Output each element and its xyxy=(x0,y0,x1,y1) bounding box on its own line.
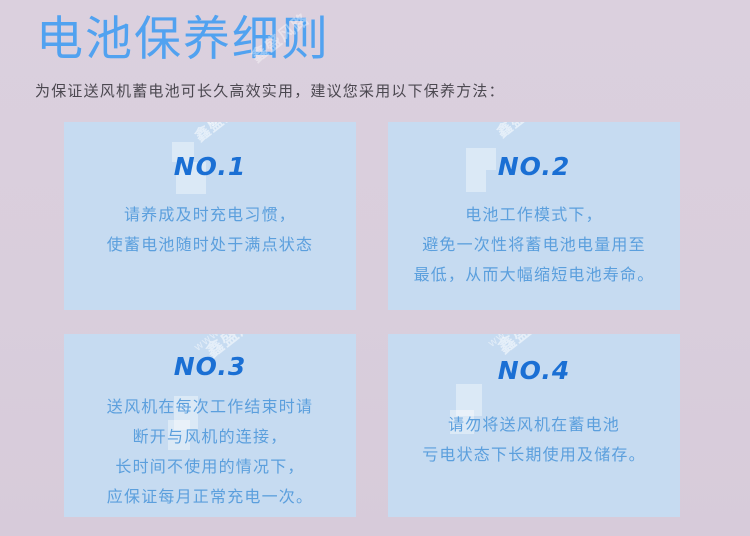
tip-line: 最低，从而大幅缩短电池寿命。 xyxy=(414,260,655,290)
tips-grid: 鑫盛风路 www.xsfl.com NO.1 请养成及时充电习惯， 使蓄电池随时… xyxy=(64,122,680,517)
page-title: 电池保养细则 xyxy=(36,12,330,68)
tip-number: NO.2 xyxy=(498,152,571,182)
tip-number: NO.3 xyxy=(174,352,247,382)
card-watermark: 鑫盛风路 xyxy=(192,122,253,145)
page-subtitle: 为保证送风机蓄电池可长久高效实用，建议您采用以下保养方法： xyxy=(35,80,505,102)
tip-body: 电池工作模式下， 避免一次性将蓄电池电量用至 最低，从而大幅缩短电池寿命。 xyxy=(414,200,655,290)
tip-card-1: 鑫盛风路 www.xsfl.com NO.1 请养成及时充电习惯， 使蓄电池随时… xyxy=(64,122,356,310)
battery-maintenance-page: 鑫盛风路 电池保养细则 为保证送风机蓄电池可长久高效实用，建议您采用以下保养方法… xyxy=(0,0,750,536)
tip-card-4: 鑫盛风路 www.xsfl.com NO.4 请勿将送风机在蓄电池 亏电状态下长… xyxy=(388,334,680,517)
tip-line: 长时间不使用的情况下， xyxy=(107,452,313,482)
card-watermark: 鑫盛风路 xyxy=(496,334,563,357)
card-watermark: 鑫盛风路 xyxy=(494,122,555,141)
tip-line: 使蓄电池随时处于满点状态 xyxy=(107,230,313,260)
tip-line: 送风机在每次工作结束时请 xyxy=(107,392,313,422)
tip-line: 电池工作模式下， xyxy=(414,200,655,230)
tip-body: 请勿将送风机在蓄电池 亏电状态下长期使用及储存。 xyxy=(422,410,646,470)
tip-line: 亏电状态下长期使用及储存。 xyxy=(422,440,646,470)
tip-card-3: 鑫盛风路 www.xsfl.com NO.3 送风机在每次工作结束时请 断开与风… xyxy=(64,334,356,517)
tip-line: 断开与风机的连接， xyxy=(107,422,313,452)
card-watermark-sub: www.xsfl.com xyxy=(506,122,581,127)
tip-body: 送风机在每次工作结束时请 断开与风机的连接， 长时间不使用的情况下， 应保证每月… xyxy=(107,392,313,512)
tip-card-2: 鑫盛风路 www.xsfl.com NO.2 电池工作模式下， 避免一次性将蓄电… xyxy=(388,122,680,310)
tip-line: 应保证每月正常充电一次。 xyxy=(107,482,313,512)
tip-number: NO.1 xyxy=(174,152,247,182)
card-watermark-sub: www.xsfl.com xyxy=(204,122,279,131)
tip-line: 请养成及时充电习惯， xyxy=(107,200,313,230)
card-watermark-sub: www.xsfl.com xyxy=(484,334,559,351)
tip-number: NO.4 xyxy=(498,356,571,386)
tip-line: 避免一次性将蓄电池电量用至 xyxy=(414,230,655,260)
watermark-block xyxy=(466,148,496,170)
tip-body: 请养成及时充电习惯， 使蓄电池随时处于满点状态 xyxy=(107,200,313,260)
header: 鑫盛风路 电池保养细则 为保证送风机蓄电池可长久高效实用，建议您采用以下保养方法… xyxy=(0,0,750,122)
tip-line: 请勿将送风机在蓄电池 xyxy=(422,410,646,440)
watermark-block xyxy=(466,170,486,192)
